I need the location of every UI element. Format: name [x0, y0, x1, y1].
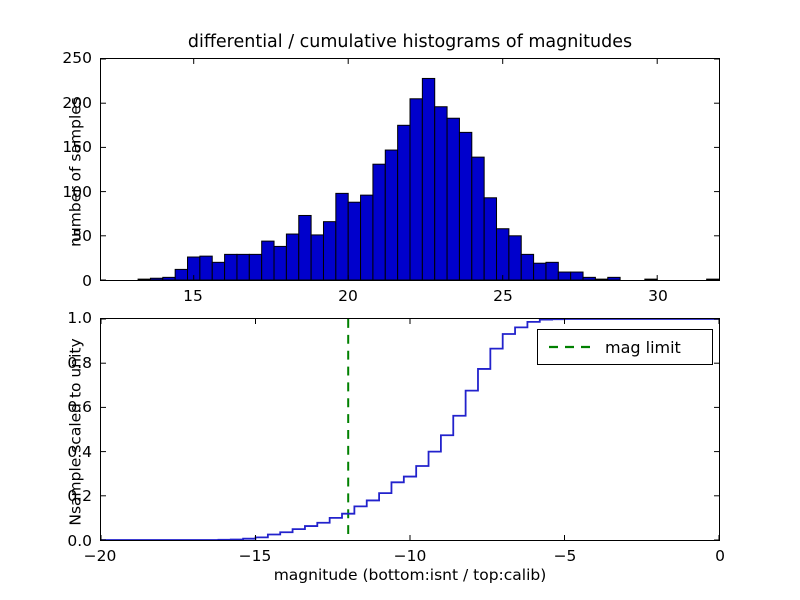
x-axis-label: magnitude (bottom:isnt / top:calib) — [100, 566, 720, 584]
histogram-bar — [472, 157, 484, 280]
top-panel-axes — [100, 58, 720, 281]
bottom-ytick-1.0: 1.0 — [38, 309, 92, 327]
bottom-ytick-0.6: 0.6 — [38, 398, 92, 416]
histogram-bar — [447, 118, 459, 280]
histogram-bar — [286, 234, 298, 280]
page-title: differential / cumulative histograms of … — [100, 32, 720, 52]
histogram-bar — [262, 241, 274, 280]
legend: mag limit — [537, 329, 713, 365]
histogram-bar — [571, 272, 583, 280]
top-ytick-150: 150 — [38, 138, 92, 156]
histogram-bar — [348, 202, 360, 280]
histogram-bar — [410, 99, 422, 280]
top-ytick-200: 200 — [38, 94, 92, 112]
histogram-bar — [138, 279, 150, 280]
histogram-bar — [311, 235, 323, 280]
histogram-bar — [373, 164, 385, 280]
histogram-bar — [534, 263, 546, 280]
histogram-bar — [595, 279, 607, 280]
histogram-bar — [225, 254, 237, 280]
bottom-xtick-0: 0 — [715, 547, 725, 565]
histogram-bar — [645, 279, 657, 280]
bottom-xtick--15: −15 — [239, 547, 272, 565]
figure-canvas: differential / cumulative histograms of … — [0, 0, 800, 600]
bottom-xtick--5: −5 — [554, 547, 577, 565]
histogram-bar — [212, 262, 224, 280]
histogram-bar — [608, 277, 620, 280]
histogram-bar — [558, 272, 570, 280]
bottom-ytick-0.8: 0.8 — [38, 354, 92, 372]
top-ytick-0: 0 — [38, 272, 92, 290]
histogram-bar — [583, 277, 595, 280]
top-ytick-50: 50 — [38, 227, 92, 245]
histogram-bar — [484, 198, 496, 280]
histogram-bar — [435, 107, 447, 280]
histogram-bar — [249, 254, 261, 280]
histogram-bar — [274, 246, 286, 280]
mag-limit-line-icon — [547, 340, 593, 354]
histogram-bar — [398, 125, 410, 280]
bottom-ytick-0.2: 0.2 — [38, 487, 92, 505]
histogram-bar — [299, 215, 311, 280]
histogram-bars — [138, 78, 719, 280]
histogram-bar — [509, 236, 521, 280]
top-xtick-20: 20 — [338, 287, 358, 305]
differential-histogram-plot — [101, 59, 719, 280]
bottom-ytick-0.4: 0.4 — [38, 443, 92, 461]
top-ytick-250: 250 — [38, 49, 92, 67]
histogram-bar — [521, 254, 533, 280]
top-ytick-100: 100 — [38, 183, 92, 201]
histogram-bar — [200, 256, 212, 280]
top-xtick-25: 25 — [493, 287, 513, 305]
histogram-bar — [385, 150, 397, 280]
histogram-bar — [459, 132, 471, 280]
histogram-bar — [175, 269, 187, 280]
histogram-bar — [336, 193, 348, 280]
histogram-bar — [361, 195, 373, 280]
bottom-ytick-0.0: 0.0 — [38, 532, 92, 550]
histogram-bar — [237, 254, 249, 280]
histogram-bar — [497, 229, 509, 280]
histogram-bar — [546, 262, 558, 280]
bottom-xtick--10: −10 — [394, 547, 427, 565]
legend-label-mag-limit: mag limit — [605, 338, 681, 357]
histogram-bar — [163, 277, 175, 280]
top-xtick-15: 15 — [183, 287, 203, 305]
histogram-bar — [422, 78, 434, 280]
histogram-bar — [323, 222, 335, 280]
top-xtick-30: 30 — [648, 287, 668, 305]
histogram-bar — [150, 278, 162, 280]
